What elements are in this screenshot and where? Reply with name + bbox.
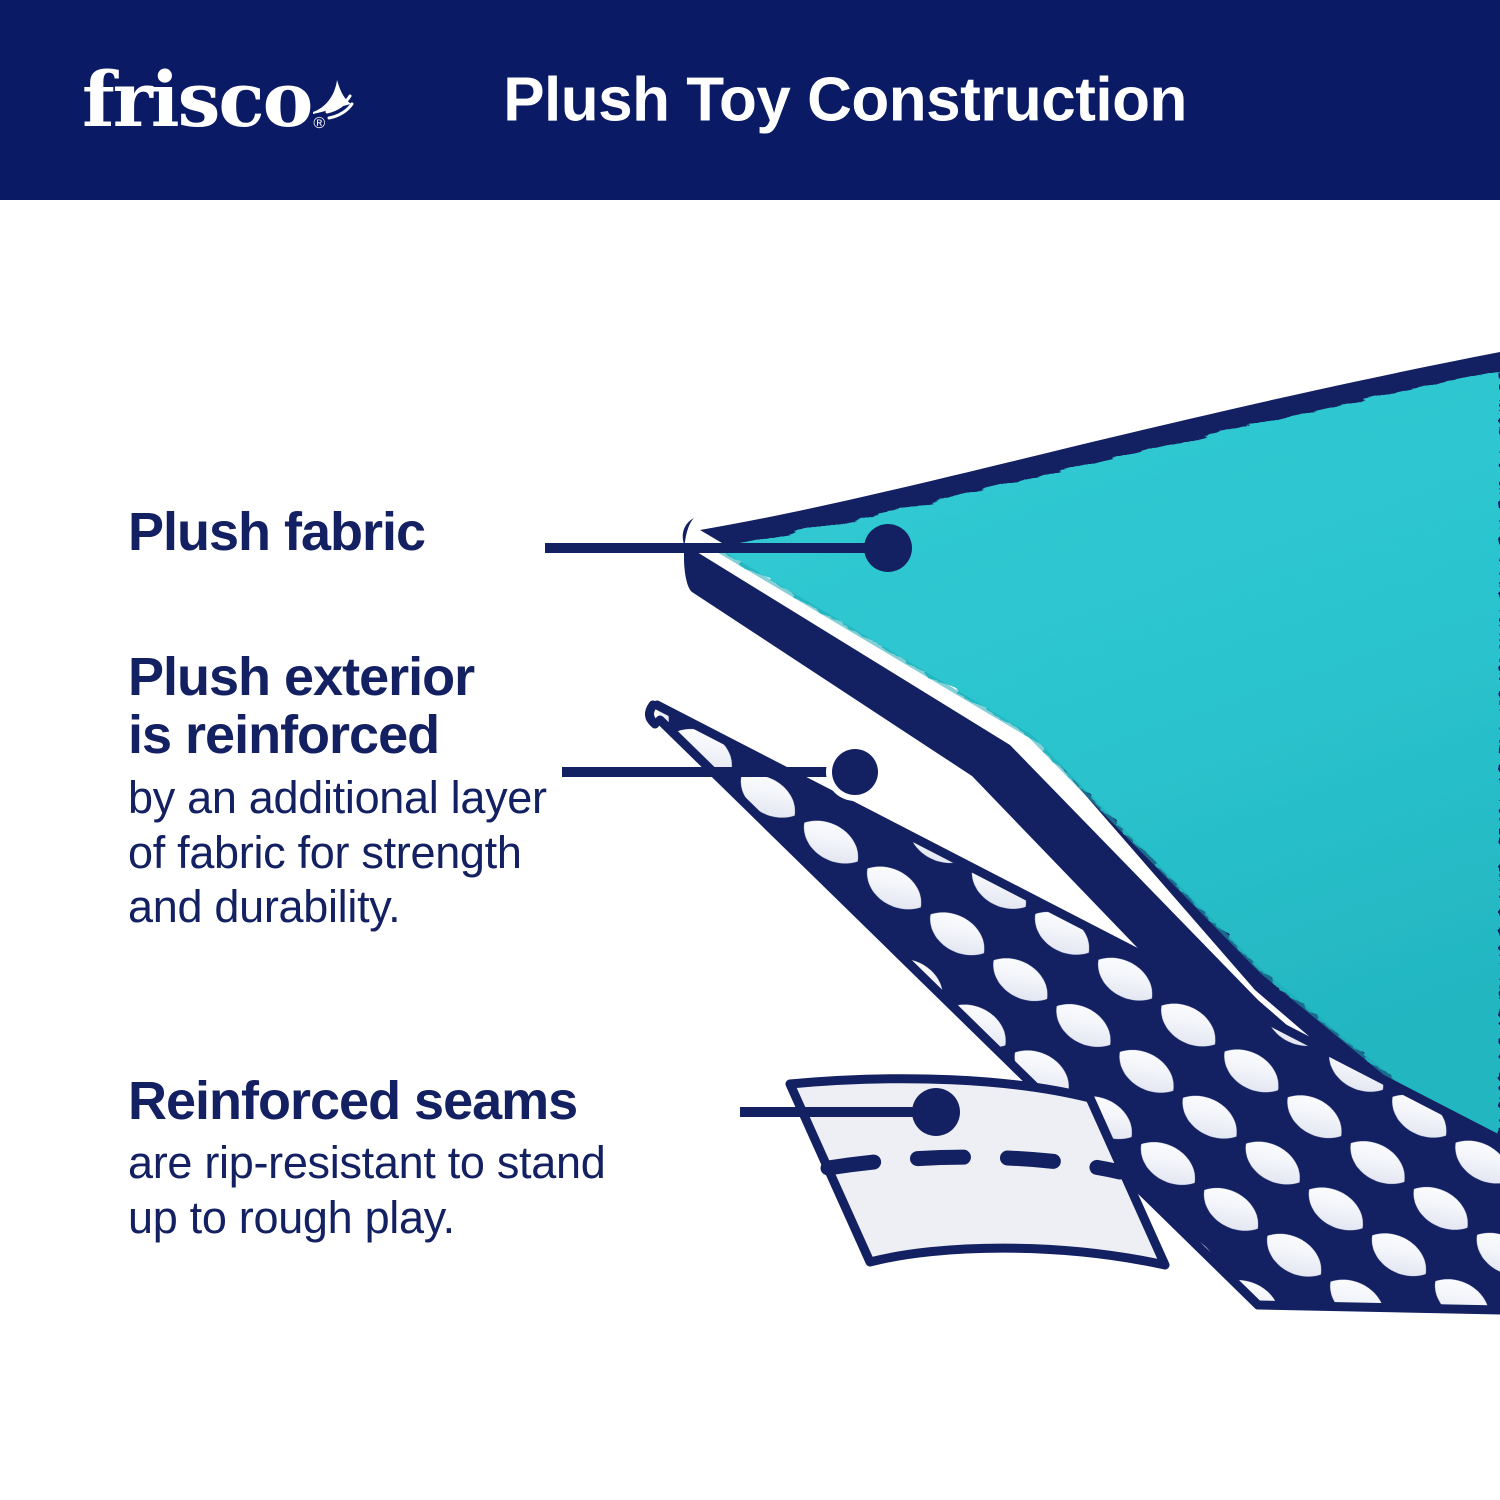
callout-plush-exterior: Plush exterior is reinforced by an addit… xyxy=(128,648,728,935)
leader-dot-plush-fabric xyxy=(864,524,912,572)
leader-dot-reinforced-seams xyxy=(912,1088,960,1136)
leader-dot-plush-exterior xyxy=(832,749,878,795)
callout-heading: Reinforced seams xyxy=(128,1072,808,1130)
callout-heading: Plush exterior is reinforced xyxy=(128,648,728,765)
callout-plush-fabric: Plush fabric xyxy=(128,503,598,567)
callout-body: by an additional layer of fabric for str… xyxy=(128,771,728,936)
callout-heading: Plush fabric xyxy=(128,503,598,561)
page-title: Plush Toy Construction xyxy=(0,65,1500,136)
callout-body: are rip-resistant to stand up to rough p… xyxy=(128,1136,808,1246)
infographic-page: frisco ® Plush Toy Construction xyxy=(0,0,1500,1500)
callout-reinforced-seams: Reinforced seams are rip-resistant to st… xyxy=(128,1072,808,1246)
page-header: frisco ® Plush Toy Construction xyxy=(0,0,1500,200)
